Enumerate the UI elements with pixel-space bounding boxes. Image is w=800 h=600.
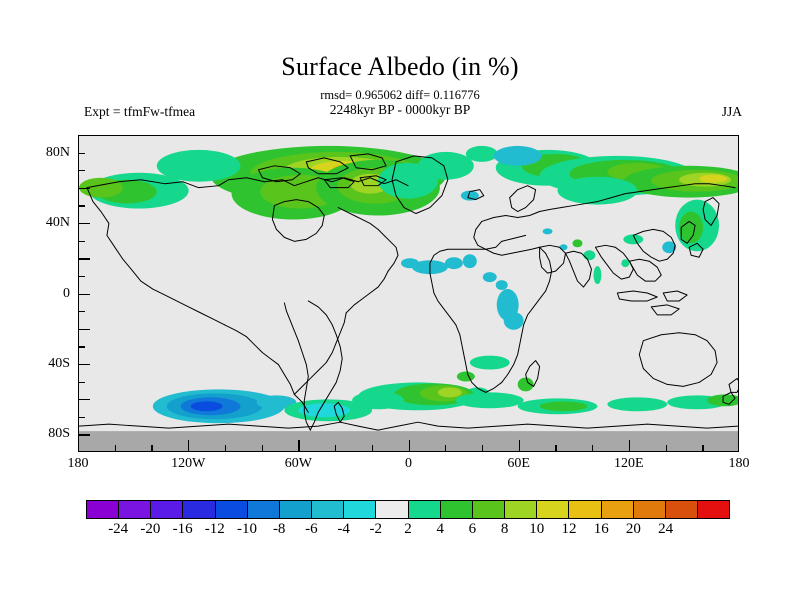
x-tick-label-60e: 60E xyxy=(489,456,549,472)
colorbar-tick-24: 24 xyxy=(643,521,689,538)
colorbar-segment-14 xyxy=(537,501,569,518)
colorbar-segment-7 xyxy=(312,501,344,518)
y-tick-label-80s: 80S xyxy=(10,426,70,442)
colorbar-segment-0 xyxy=(87,501,119,518)
colorbar-segment-8 xyxy=(344,501,376,518)
season-label: JJA xyxy=(722,104,742,120)
colorbar-segment-3 xyxy=(183,501,215,518)
y-axis: 80N 40N 0 40S 80S xyxy=(6,135,70,452)
colorbar-segment-6 xyxy=(280,501,312,518)
colorbar-segment-17 xyxy=(634,501,666,518)
colorbar-segment-1 xyxy=(119,501,151,518)
y-tick-label-0: 0 xyxy=(10,286,70,302)
colorbar-segments xyxy=(86,500,730,519)
figure-canvas: Surface Albedo (in %) rmsd= 0.965062 dif… xyxy=(0,0,800,600)
colorbar-segment-13 xyxy=(505,501,537,518)
colorbar-segment-19 xyxy=(698,501,729,518)
x-tick-label-180e: 180 xyxy=(709,456,769,472)
y-tick-label-80n: 80N xyxy=(10,145,70,161)
colorbar-segment-18 xyxy=(666,501,698,518)
colorbar-tick-labels: -24-20-16-12-10-8-6-4-224681012162024 xyxy=(86,521,730,543)
colorbar-segment-15 xyxy=(569,501,601,518)
colorbar-segment-11 xyxy=(441,501,473,518)
map-plot-area xyxy=(78,135,739,452)
x-axis: 180 120W 60W 0 60E 120E 180 xyxy=(78,456,739,480)
map-canvas xyxy=(79,136,738,451)
colorbar-segment-12 xyxy=(473,501,505,518)
colorbar-segment-5 xyxy=(248,501,280,518)
y-tick-label-40s: 40S xyxy=(10,356,70,372)
statistics-line: rmsd= 0.965062 diff= 0.116776 xyxy=(0,88,800,103)
colorbar-segment-16 xyxy=(602,501,634,518)
x-tick-label-120w: 120W xyxy=(158,456,218,472)
experiment-label: Expt = tfmFw-tfmea xyxy=(84,104,195,120)
x-tick-label-120e: 120E xyxy=(599,456,659,472)
x-tick-label-60w: 60W xyxy=(268,456,328,472)
colorbar xyxy=(86,500,730,519)
y-tick-label-40n: 40N xyxy=(10,215,70,231)
colorbar-segment-2 xyxy=(151,501,183,518)
colorbar-segment-9 xyxy=(376,501,408,518)
page-title: Surface Albedo (in %) xyxy=(0,52,800,82)
x-tick-label-180w: 180 xyxy=(48,456,108,472)
colorbar-segment-10 xyxy=(409,501,441,518)
colorbar-segment-4 xyxy=(216,501,248,518)
x-tick-label-0: 0 xyxy=(379,456,439,472)
